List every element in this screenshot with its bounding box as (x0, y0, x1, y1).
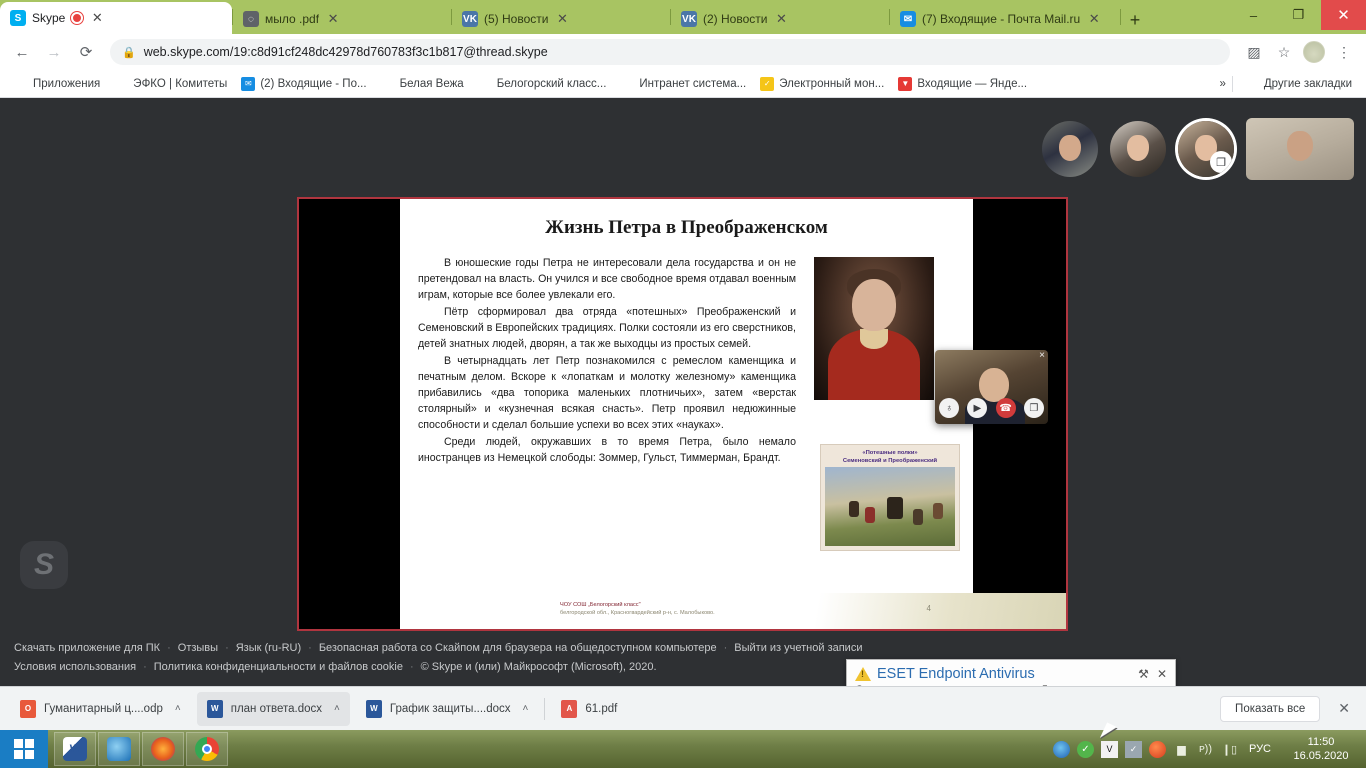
divider (544, 698, 545, 720)
forward-icon[interactable]: → (40, 38, 68, 66)
bookmark-label: Приложения (33, 78, 100, 90)
figure (887, 497, 903, 519)
bookmark-star-icon[interactable]: ☆ (1270, 38, 1298, 66)
slide-page-number: 4 (927, 604, 931, 613)
participant-video-1[interactable] (1042, 121, 1098, 177)
slide-canvas: Жизнь Петра в Преображенском В юношеские… (400, 199, 973, 629)
portrait-head (852, 279, 896, 331)
tab-vk-novosti-2[interactable]: VK (2) Новости ✕ (671, 4, 889, 34)
tab-title: (5) Новости (484, 12, 548, 26)
link-terms-of-use[interactable]: Условия использования (14, 661, 136, 673)
link-sign-out[interactable]: Выйти из учетной записи (734, 642, 862, 654)
avatar (1059, 135, 1081, 161)
other-bookmarks-label: Другие закладки (1264, 78, 1352, 90)
address-bar-url: web.skype.com/19:c8d91cf248dc42978d76078… (144, 45, 548, 59)
other-bookmarks-button[interactable]: ▮ Другие закладки (1239, 74, 1358, 94)
chrome-icon (195, 737, 219, 761)
divider (1232, 76, 1233, 92)
figure (913, 509, 923, 525)
word-icon: W (63, 737, 87, 761)
bookmark-label: ЭФКО | Комитеты (133, 78, 227, 90)
link-safe-public-computer[interactable]: Безопасная работа со Скайпом для браузер… (319, 642, 717, 654)
folder-icon: ▮ (1245, 77, 1259, 91)
globe-icon: ◌ (114, 77, 128, 91)
avatar (1127, 135, 1149, 161)
figure (865, 507, 875, 523)
tab-title: Skype (32, 11, 65, 25)
tab-skype[interactable]: S Skype ✕ (0, 2, 232, 34)
address-bar[interactable]: 🔒 web.skype.com/19:c8d91cf248dc42978d760… (110, 39, 1230, 65)
battery-icon[interactable]: ❙▯ (1221, 741, 1238, 758)
toolbar-icons: ▨ ☆ ⋮ (1240, 38, 1358, 66)
tab-mylo-pdf[interactable]: ◌ мыло .pdf ✕ (233, 4, 451, 34)
more-menu-icon[interactable]: ⋮ (1330, 38, 1358, 66)
language-indicator[interactable]: РУС (1245, 743, 1275, 755)
apps-grid-icon: ▦ (14, 77, 28, 91)
eset-notification-title: ESET Endpoint Antivirus (877, 666, 1035, 682)
portrait-of-peter-the-great (814, 257, 934, 400)
participant-video-4[interactable] (1246, 118, 1354, 180)
firefox-icon (151, 737, 175, 761)
slide-paragraph: В юношеские годы Петра не интересовали д… (418, 255, 796, 303)
figure (849, 501, 859, 517)
tab-close-button[interactable]: ✕ (773, 11, 789, 27)
chevron-up-icon[interactable]: ˄ (523, 703, 529, 714)
window-controls: – ❐ ✕ (1231, 0, 1366, 34)
bookmark-yandex-inbox[interactable]: ▼ Входящие — Янде... (892, 74, 1033, 94)
skype-icon: S (10, 10, 26, 26)
bookmark-belogorsky-klass[interactable]: ✷ Белогорский класс... (472, 74, 613, 94)
separator: · (167, 642, 171, 654)
reload-icon[interactable]: ⟳ (72, 38, 100, 66)
taskbar-apps: W (54, 732, 228, 766)
pdf-file-icon: A (561, 700, 577, 718)
end-call-button[interactable]: ☎ (996, 398, 1016, 418)
vk-icon: VK (681, 11, 697, 27)
footer-line-1: ЧОУ СОШ „Белогорский класс" (560, 601, 715, 609)
yandex-mail-icon: ▼ (898, 77, 912, 91)
participant-video-3[interactable]: ❐ (1178, 121, 1234, 177)
windows-taskbar: W ✓ V ✓ ▆ ᴘ)) ❙▯ РУС 11:50 16.05.20 (0, 730, 1366, 768)
show-all-downloads-button[interactable]: Показать все (1220, 696, 1320, 722)
download-item-61-pdf[interactable]: A 61.pdf (551, 692, 627, 726)
separator: · (143, 661, 147, 673)
tab-title: (7) Входящие - Почта Mail.ru (922, 12, 1080, 26)
yandex-tray-icon[interactable] (1053, 741, 1070, 758)
clock[interactable]: 11:50 16.05.2020 (1282, 735, 1356, 763)
globe-icon: ◌ (381, 77, 395, 91)
self-view-face (979, 368, 1009, 402)
globe-icon: ◌ (243, 11, 259, 27)
poteshnye-polki-image: «Потешные полки» Семеновский и Преображе… (820, 444, 960, 551)
bookmark-belaya-vezha[interactable]: ◌ Белая Вежа (375, 74, 470, 94)
chevron-up-icon[interactable]: ˄ (334, 703, 340, 714)
taskbar-thunderbird[interactable] (98, 732, 140, 766)
tab-title: мыло .pdf (265, 12, 319, 26)
bookmark-inbox[interactable]: ✉ (2) Входящие - По... (235, 74, 372, 94)
battle-painting (825, 467, 955, 546)
clock-time: 11:50 (1286, 735, 1356, 749)
portrait-collar (860, 329, 888, 349)
vlc-tray-icon[interactable]: V (1101, 741, 1118, 758)
new-tab-button[interactable]: + (1121, 6, 1149, 34)
clock-date: 16.05.2020 (1286, 749, 1356, 763)
caption-line-2: Семеновский и Преображенский (821, 457, 959, 465)
bookmark-label: Белая Вежа (400, 78, 464, 90)
eset-notification-actions: ⚒ ✕ (1138, 667, 1167, 681)
link-feedback[interactable]: Отзывы (178, 642, 218, 654)
wrench-icon[interactable]: ⚒ (1138, 667, 1149, 681)
browser-toolbar: ← → ⟳ 🔒 web.skype.com/19:c8d91cf248dc429… (0, 34, 1366, 70)
eset-tray-icon[interactable] (1149, 741, 1166, 758)
slide-footer-text: ЧОУ СОШ „Белогорский класс" белгородской… (560, 601, 715, 617)
bookmark-label: Входящие — Янде... (917, 78, 1027, 90)
mail-icon: ✉ (241, 77, 255, 91)
pip-icon[interactable]: ❐ (1210, 151, 1232, 173)
screen: S Skype ✕ ◌ мыло .pdf ✕ VK (5) Новости ✕… (0, 0, 1366, 768)
odp-file-icon: O (20, 700, 36, 718)
footer-line-2: белгородской обл., Красногвардейский р-н… (560, 609, 715, 617)
caption-line-1: «Потешные полки» (821, 449, 959, 457)
download-filename: График защиты....docx (390, 703, 511, 715)
chevron-up-icon[interactable]: ˄ (175, 703, 181, 714)
usb-safely-remove-icon[interactable]: ✓ (1125, 741, 1142, 758)
slide-paragraph: Среди людей, окружавших в то время Петра… (418, 434, 796, 466)
link-language[interactable]: Язык (ru-RU) (236, 642, 301, 654)
image-caption: «Потешные полки» Семеновский и Преображе… (821, 449, 959, 465)
download-filename: 61.pdf (585, 703, 617, 715)
slide-body-text: В юношеские годы Петра не интересовали д… (418, 255, 796, 467)
taskbar-word[interactable]: W (54, 732, 96, 766)
bookmark-apps[interactable]: ▦ Приложения (8, 74, 106, 94)
avatar (1287, 131, 1313, 161)
globe-icon: ◌ (620, 77, 634, 91)
vk-icon: VK (462, 11, 478, 27)
eset-notification-header: ESET Endpoint Antivirus ⚒ ✕ (855, 666, 1167, 682)
participant-video-2[interactable] (1110, 121, 1166, 177)
tab-recording-indicator (71, 12, 83, 24)
download-item-plan-otveta[interactable]: W план ответа.docx ˄ (197, 692, 350, 726)
bookmark-elektronny-monitoring[interactable]: ✓ Электронный мон... (754, 74, 890, 94)
downloads-bar-actions: Показать все ✕ (1220, 696, 1356, 722)
windows-logo (14, 739, 34, 759)
close-icon[interactable]: ✕ (1157, 667, 1167, 681)
close-window-button[interactable]: ✕ (1321, 0, 1366, 30)
bookmark-label: Электронный мон... (779, 78, 884, 90)
warning-triangle-icon (855, 667, 871, 681)
bookmarks-bar: ▦ Приложения ◌ ЭФКО | Комитеты ✉ (2) Вхо… (0, 70, 1366, 98)
close-downloads-bar-icon[interactable]: ✕ (1332, 700, 1356, 717)
bookmark-efko[interactable]: ◌ ЭФКО | Комитеты (108, 74, 233, 94)
volume-icon[interactable]: ᴘ)) (1197, 741, 1214, 758)
tab-close-button[interactable]: ✕ (325, 11, 341, 27)
bookmark-label: Интранет система... (639, 78, 746, 90)
check-tray-icon[interactable]: ✓ (1077, 741, 1094, 758)
bookmark-label: (2) Входящие - По... (260, 78, 366, 90)
back-icon[interactable]: ← (8, 38, 36, 66)
docx-file-icon: W (366, 700, 382, 718)
mail-icon: ✉ (900, 11, 916, 27)
tab-close-button[interactable]: ✕ (554, 11, 570, 27)
close-icon[interactable]: × (1039, 350, 1045, 361)
separator: · (308, 642, 312, 654)
star-icon: ✷ (478, 77, 492, 91)
maximize-button[interactable]: ❐ (1276, 0, 1321, 30)
download-filename: план ответа.docx (231, 703, 322, 715)
share-screen-button[interactable]: ❐ (1024, 398, 1044, 418)
cast-icon[interactable]: ▨ (1240, 38, 1268, 66)
link-privacy-cookies[interactable]: Политика конфиденциальности и файлов coo… (154, 661, 403, 673)
lock-icon: 🔒 (122, 46, 136, 59)
profile-avatar[interactable] (1300, 38, 1328, 66)
link-download-app[interactable]: Скачать приложение для ПК (14, 642, 160, 654)
skype-logo-watermark: S (20, 541, 68, 589)
docx-file-icon: W (207, 700, 223, 718)
tab-close-button[interactable]: ✕ (1086, 11, 1102, 27)
participants-strip: ❐ (1042, 118, 1354, 180)
bookmarks-overflow-area: » ▮ Другие закладки (1219, 74, 1358, 94)
download-item-grafik-zashity[interactable]: W График защиты....docx ˄ (356, 692, 539, 726)
skype-web-page: S ❐ Жизнь Петра в Преображенском В юнош (0, 98, 1366, 686)
footer-row-primary: Скачать приложение для ПК · Отзывы · Язы… (14, 642, 1352, 654)
call-controls-bar: ♁ ▶ ☎ ❐ (935, 398, 1048, 418)
bookmark-label: Белогорский класс... (497, 78, 607, 90)
browser-tab-strip: S Skype ✕ ◌ мыло .pdf ✕ VK (5) Новости ✕… (0, 0, 1366, 34)
download-filename: Гуманитарный ц....odp (44, 703, 163, 715)
separator: · (410, 661, 414, 673)
minimize-button[interactable]: – (1231, 0, 1276, 30)
bookmark-intranet[interactable]: ◌ Интранет система... (614, 74, 752, 94)
copyright-text: © Skype и (или) Майкрософт (Microsoft), … (421, 661, 657, 673)
downloads-bar: O Гуманитарный ц....odp ˄ W план ответа.… (0, 686, 1366, 730)
separator: · (724, 642, 728, 654)
taskbar-chrome[interactable] (186, 732, 228, 766)
slide-title: Жизнь Петра в Преображенском (400, 217, 973, 239)
network-icon[interactable]: ▆ (1173, 741, 1190, 758)
checkmark-icon: ✓ (760, 77, 774, 91)
tab-mailru-inbox[interactable]: ✉ (7) Входящие - Почта Mail.ru ✕ (890, 4, 1120, 34)
figure (933, 503, 943, 519)
download-item-odp[interactable]: O Гуманитарный ц....odp ˄ (10, 692, 191, 726)
tab-vk-novosti-5[interactable]: VK (5) Новости ✕ (452, 4, 670, 34)
slide-paragraph: Пётр сформировал два отряда «потешных» П… (418, 304, 796, 352)
taskbar-firefox[interactable] (142, 732, 184, 766)
separator: · (225, 642, 229, 654)
camera-button[interactable]: ▶ (967, 398, 987, 418)
slide-paragraph: В четырнадцать лет Петр познакомился с р… (418, 353, 796, 433)
thunderbird-icon (107, 737, 131, 761)
bookmarks-overflow-button[interactable]: » (1219, 78, 1225, 90)
windows-start-icon[interactable] (0, 730, 48, 768)
tab-close-button[interactable]: ✕ (89, 10, 105, 26)
system-tray: ✓ V ✓ ▆ ᴘ)) ❙▯ РУС 11:50 16.05.2020 (1053, 735, 1366, 763)
tab-title: (2) Новости (703, 12, 767, 26)
microphone-button[interactable]: ♁ (939, 398, 959, 418)
